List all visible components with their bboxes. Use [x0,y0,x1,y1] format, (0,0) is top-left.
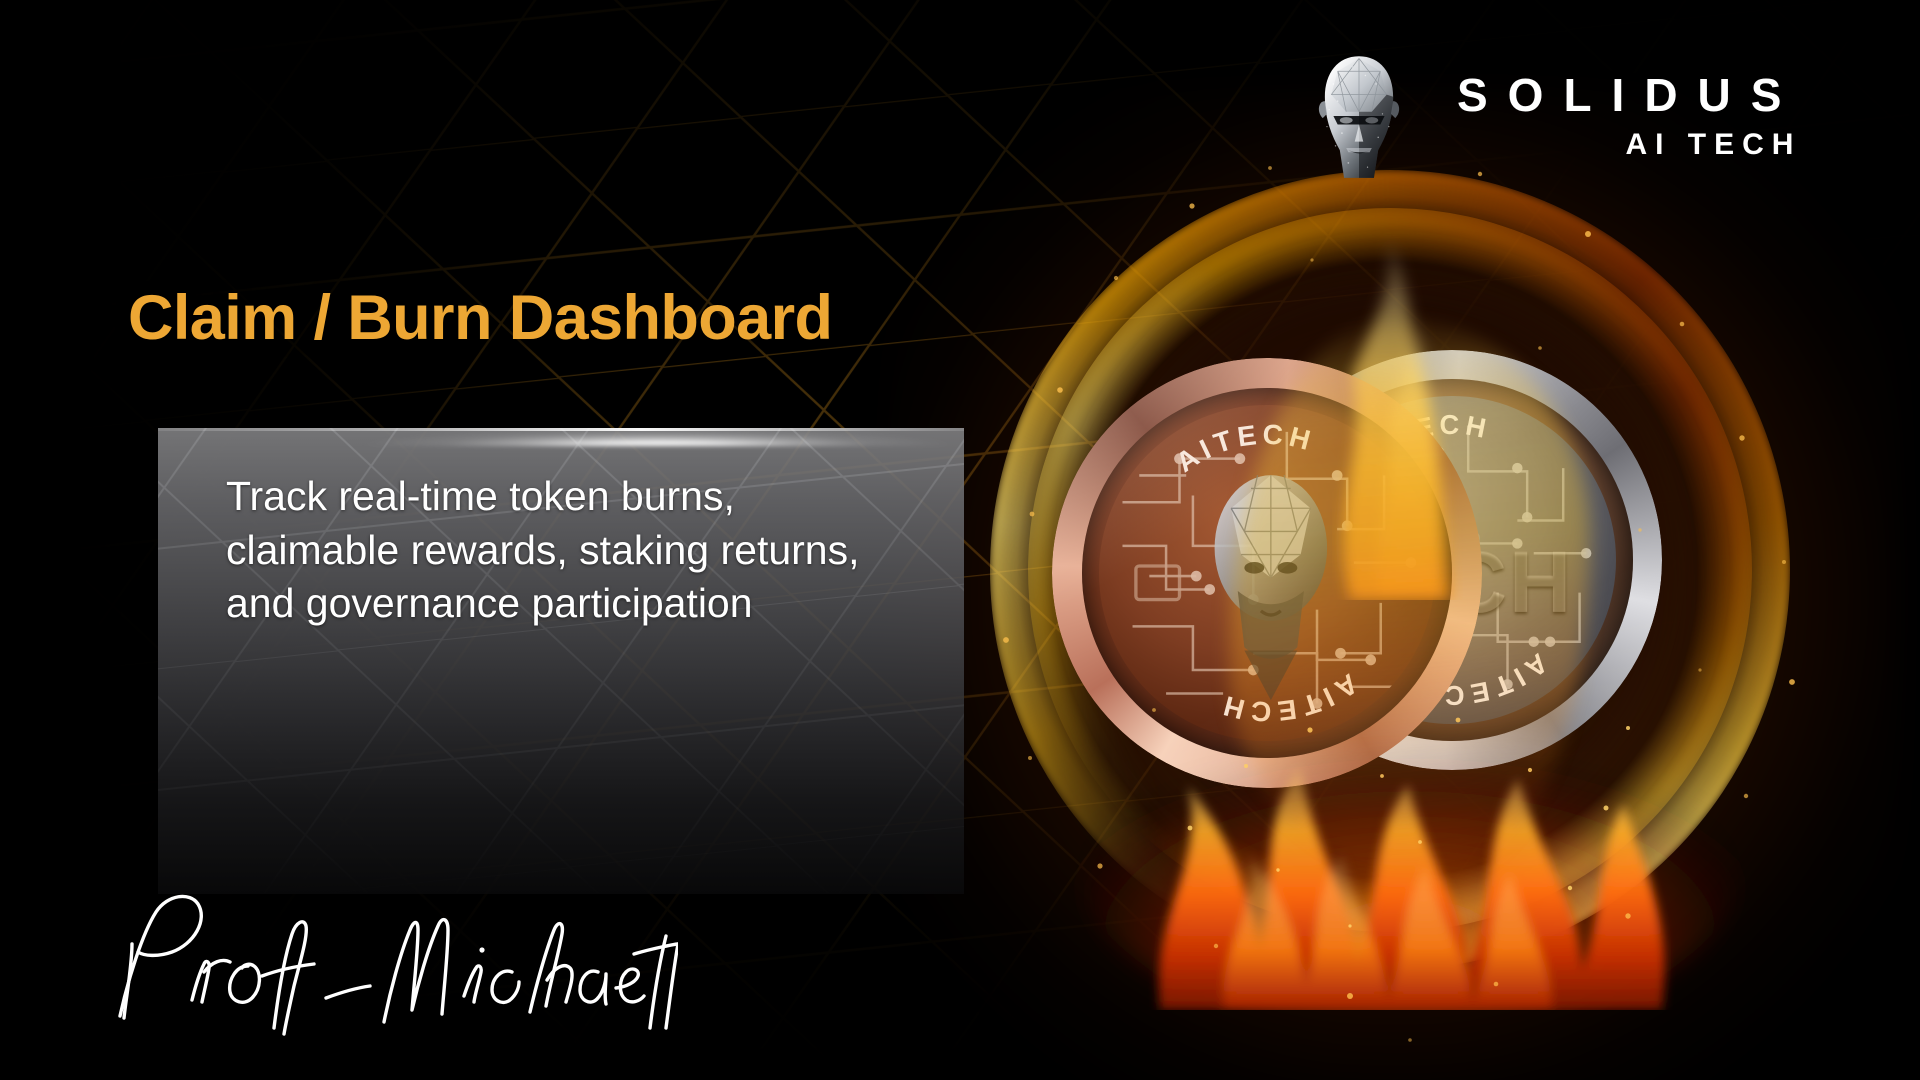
info-card: Track real-time token burns, claimable r… [158,428,964,894]
slide-canvas: TECH AITECH AITECH [0,0,1920,1080]
brand-text: SOLIDUS AI TECH [1437,72,1801,160]
coin-front: AITECH AITECH [1052,358,1482,788]
brand-name: SOLIDUS [1437,72,1801,118]
signature: Prof_Michaett [98,888,678,1048]
brand-logo[interactable]: SOLIDUS AI TECH [1305,52,1801,180]
svg-text:AITECH: AITECH [1170,419,1318,479]
polygonal-ai-head-icon [1305,52,1413,180]
svg-text:AITECH: AITECH [1216,668,1364,728]
burning-coins-artwork: TECH AITECH AITECH [980,150,1820,1050]
card-top-edge [158,428,964,431]
coin-front-rim-text: AITECH AITECH [1052,358,1482,788]
page-title: Claim / Burn Dashboard [128,282,832,354]
brand-subtitle: AI TECH [1617,130,1801,160]
card-body-text: Track real-time token burns, claimable r… [226,470,918,631]
